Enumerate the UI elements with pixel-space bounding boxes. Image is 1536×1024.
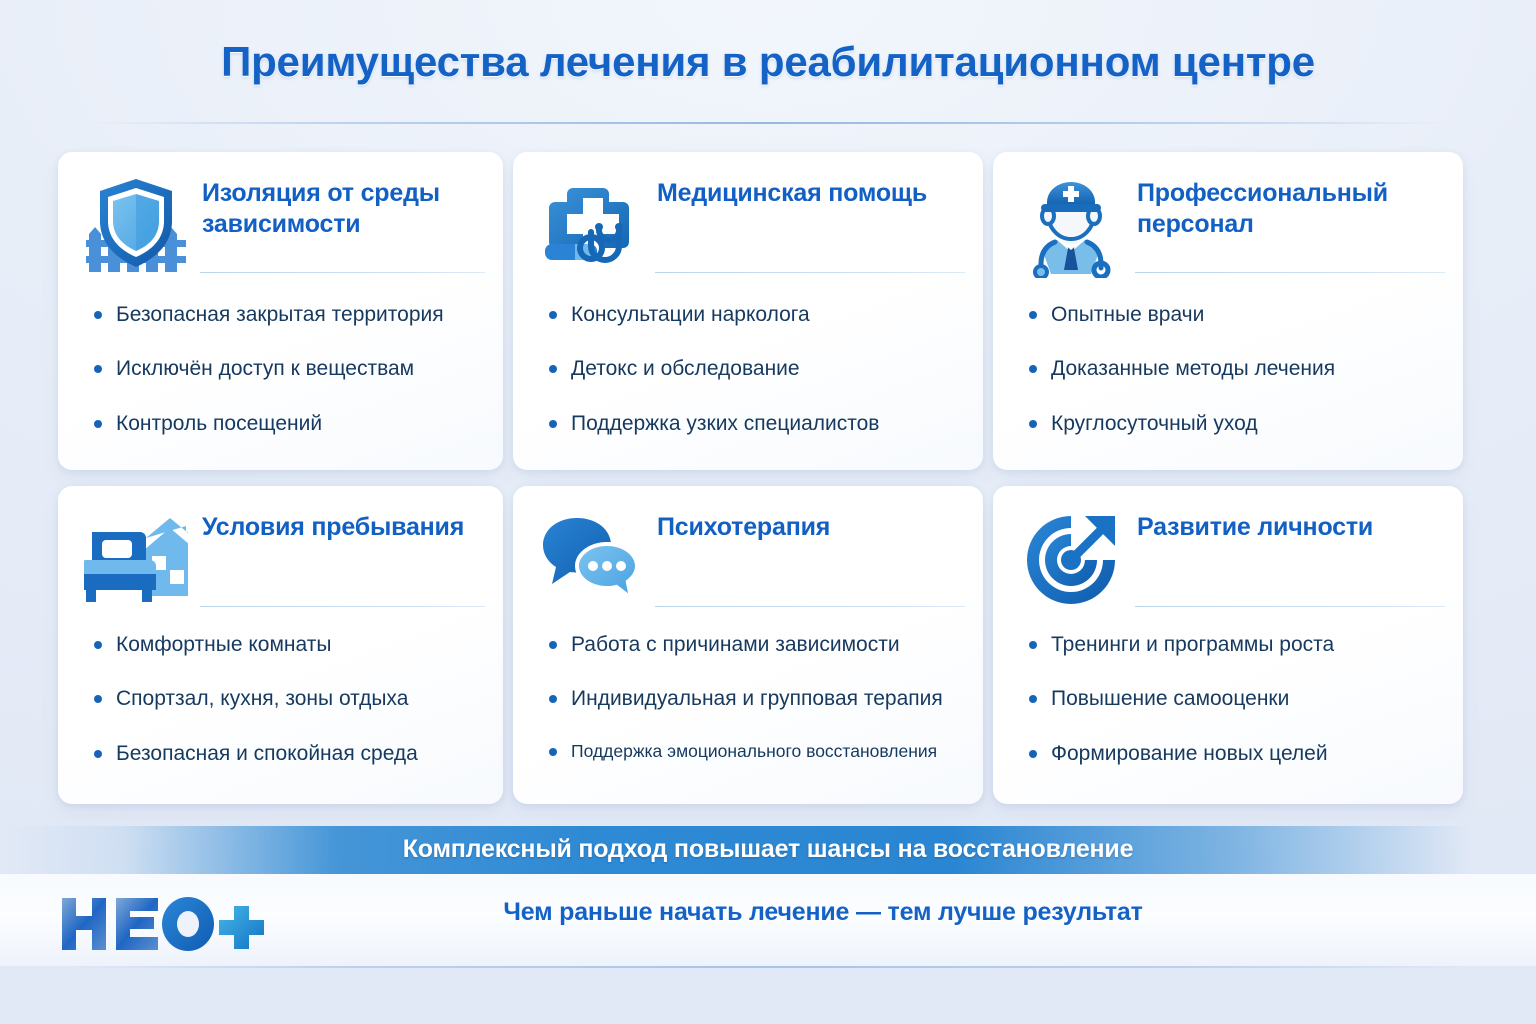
list-item: Круглосуточный уход (1021, 411, 1447, 437)
list-item: Поддержка узких специалистов (541, 411, 967, 437)
list-item: Безопасная и спокойная среда (86, 741, 487, 767)
page-header: Преимущества лечения в реабилитационном … (0, 0, 1536, 130)
card-title: Психотерапия (657, 512, 961, 543)
doctor-icon (1019, 174, 1123, 278)
card-header: Условия пребывания (84, 508, 481, 612)
list-item: Спортзал, кухня, зоны отдыха (86, 686, 487, 712)
medical-bag-stethoscope-icon (539, 174, 643, 278)
card-bullet-list: Безопасная закрытая территория Исключён … (86, 302, 487, 437)
header-divider (90, 122, 1446, 124)
list-item: Повышение самооценки (1021, 686, 1447, 712)
card-bullet-list: Тренинги и программы роста Повышение сам… (1021, 632, 1447, 767)
card-divider (655, 606, 965, 607)
card-header: Развитие личности (1019, 508, 1441, 612)
card-title: Медицинская помощь (657, 178, 961, 209)
footer-banner-text: Комплексный подход повышает шансы на вос… (0, 835, 1536, 864)
card-title: Условия пребывания (202, 512, 481, 543)
card-title: Профессиональный персонал (1137, 178, 1441, 239)
card-title: Развитие личности (1137, 512, 1441, 543)
target-arrow-icon (1019, 508, 1123, 612)
card-header: Психотерапия (539, 508, 961, 612)
benefit-card-personal-growth[interactable]: Развитие личности Тренинги и программы р… (993, 486, 1463, 804)
list-item: Тренинги и программы роста (1021, 632, 1447, 658)
list-item: Детокс и обследование (541, 356, 967, 382)
list-item: Работа с причинами зависимости (541, 632, 967, 658)
list-item: Консультации нарколога (541, 302, 967, 328)
logo[interactable] (56, 888, 266, 960)
card-divider (200, 272, 485, 273)
bed-house-icon (84, 508, 188, 612)
benefit-card-medical-help[interactable]: Медицинская помощь Консультации нарколог… (513, 152, 983, 470)
list-item: Индивидуальная и групповая терапия (541, 686, 967, 712)
list-item: Контроль посещений (86, 411, 487, 437)
page-title: Преимущества лечения в реабилитационном … (0, 38, 1536, 86)
list-item: Формирование новых целей (1021, 741, 1447, 767)
shield-fence-icon (84, 174, 188, 278)
benefit-card-isolation[interactable]: Изоляция от среды зависимости Безопасная… (58, 152, 503, 470)
card-divider (655, 272, 965, 273)
card-header: Профессиональный персонал (1019, 174, 1441, 278)
list-item: Доказанные методы лечения (1021, 356, 1447, 382)
page-footer: Комплексный подход повышает шансы на вос… (0, 826, 1536, 1024)
benefits-grid: Изоляция от среды зависимости Безопасная… (58, 152, 1458, 804)
list-item: Опытные врачи (1021, 302, 1447, 328)
list-item: Исключён доступ к веществам (86, 356, 487, 382)
benefit-card-professional-staff[interactable]: Профессиональный персонал Опытные врачи … (993, 152, 1463, 470)
footer-divider (60, 966, 1476, 968)
footer-tagline: Чем раньше начать лечение — тем лучше ре… (290, 898, 1356, 927)
list-item: Безопасная закрытая территория (86, 302, 487, 328)
card-divider (200, 606, 485, 607)
benefit-card-psychotherapy[interactable]: Психотерапия Работа с причинами зависимо… (513, 486, 983, 804)
card-bullet-list: Комфортные комнаты Спортзал, кухня, зоны… (86, 632, 487, 767)
card-bullet-list: Опытные врачи Доказанные методы лечения … (1021, 302, 1447, 437)
card-bullet-list: Работа с причинами зависимости Индивидуа… (541, 632, 967, 762)
card-header: Медицинская помощь (539, 174, 961, 278)
list-item: Поддержка эмоционального восстановления (541, 741, 967, 763)
list-item: Комфортные комнаты (86, 632, 487, 658)
speech-bubbles-icon (539, 508, 643, 612)
card-divider (1135, 606, 1445, 607)
card-bullet-list: Консультации нарколога Детокс и обследов… (541, 302, 967, 437)
card-divider (1135, 272, 1445, 273)
card-header: Изоляция от среды зависимости (84, 174, 481, 278)
card-title: Изоляция от среды зависимости (202, 178, 481, 239)
benefit-card-living-conditions[interactable]: Условия пребывания Комфортные комнаты Сп… (58, 486, 503, 804)
